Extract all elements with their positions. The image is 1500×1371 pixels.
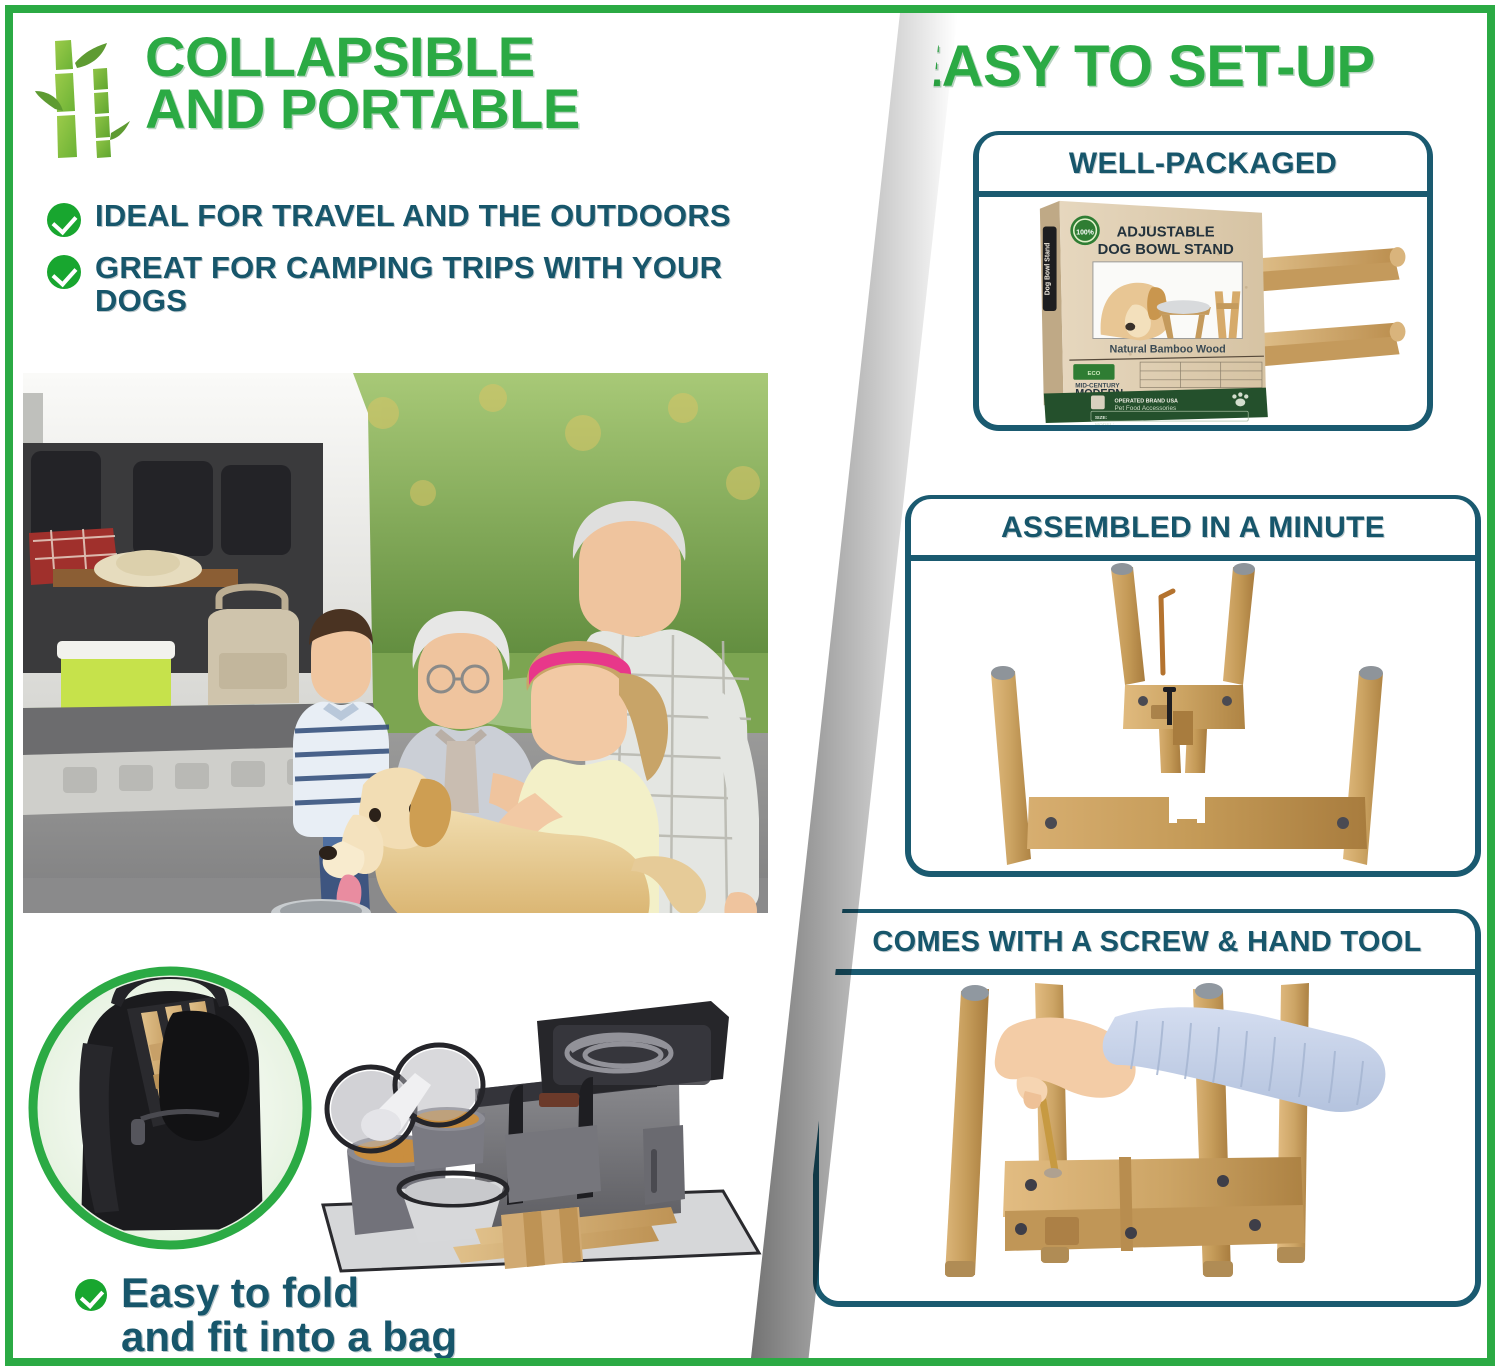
svg-text:OPERATED BRAND USA: OPERATED BRAND USA xyxy=(1115,398,1178,404)
svg-text:SIZE:: SIZE: xyxy=(1095,415,1108,421)
step-panel-assembled: ASSEMBLED IN A MINUTE xyxy=(905,495,1481,877)
svg-text:MODEL:: MODEL: xyxy=(1095,422,1115,425)
check-circle-icon xyxy=(47,255,81,289)
page-title: COLLAPSIBLE AND PORTABLE xyxy=(145,23,580,134)
infographic-page: COLLAPSIBLE AND PORTABLE IDEAL FOR TRAVE… xyxy=(0,0,1500,1371)
check-circle-icon xyxy=(47,203,81,237)
travel-bag-photo xyxy=(23,913,768,1293)
svg-text:100%: 100% xyxy=(1076,229,1094,236)
bullet-label: GREAT FOR CAMPING TRIPS WITH YOUR DOGS xyxy=(95,251,747,317)
step-panel-well-packaged: WELL-PACKAGED xyxy=(973,131,1433,431)
svg-text:DOG BOWL STAND: DOG BOWL STAND xyxy=(1098,242,1235,258)
fold-caption-line-1: Easy to fold xyxy=(121,1271,457,1315)
svg-text:Dog Bowl Stand: Dog Bowl Stand xyxy=(1045,243,1052,296)
bamboo-icon xyxy=(35,37,131,177)
family-camping-photo xyxy=(23,373,768,963)
right-panel-title: EASY TO SET-UP xyxy=(797,33,1481,100)
step-label: ASSEMBLED IN A MINUTE xyxy=(911,499,1475,561)
green-frame-border: COLLAPSIBLE AND PORTABLE IDEAL FOR TRAVE… xyxy=(5,5,1495,1366)
step-label: COMES WITH A SCREW & HAND TOOL xyxy=(819,913,1475,975)
step-image-screw-and-tool xyxy=(819,975,1475,1301)
svg-text:ECO: ECO xyxy=(1088,371,1101,377)
svg-text:ADJUSTABLE: ADJUSTABLE xyxy=(1117,224,1215,240)
list-item: GREAT FOR CAMPING TRIPS WITH YOUR DOGS xyxy=(47,251,747,317)
headline-line-2: AND PORTABLE xyxy=(145,83,580,135)
list-item: IDEAL FOR TRAVEL AND THE OUTDOORS xyxy=(47,199,747,237)
fold-caption-text: Easy to fold and fit into a bag xyxy=(121,1271,457,1359)
step-label: WELL-PACKAGED xyxy=(979,135,1427,197)
headline-row: COLLAPSIBLE AND PORTABLE xyxy=(35,23,735,177)
fold-caption: Easy to fold and fit into a bag xyxy=(75,1271,457,1359)
right-panel: EASY TO SET-UP WELL-PACKAGED xyxy=(797,13,1487,1358)
step-panel-screw-and-tool: COMES WITH A SCREW & HAND TOOL xyxy=(813,909,1481,1307)
fold-caption-line-2: and fit into a bag xyxy=(121,1315,457,1359)
step-image-assembled xyxy=(911,561,1475,871)
bullet-label: IDEAL FOR TRAVEL AND THE OUTDOORS xyxy=(95,199,731,232)
svg-text:Natural Bamboo Wood: Natural Bamboo Wood xyxy=(1110,343,1226,355)
check-circle-icon xyxy=(75,1279,107,1311)
step-image-well-packaged: Dog Bowl Stand 100% ADJUSTABLE DOG BOWL … xyxy=(979,197,1427,425)
left-panel: COLLAPSIBLE AND PORTABLE IDEAL FOR TRAVE… xyxy=(13,13,773,1358)
feature-bullet-list: IDEAL FOR TRAVEL AND THE OUTDOORS GREAT … xyxy=(47,199,747,331)
infographic-canvas: COLLAPSIBLE AND PORTABLE IDEAL FOR TRAVE… xyxy=(13,13,1487,1358)
